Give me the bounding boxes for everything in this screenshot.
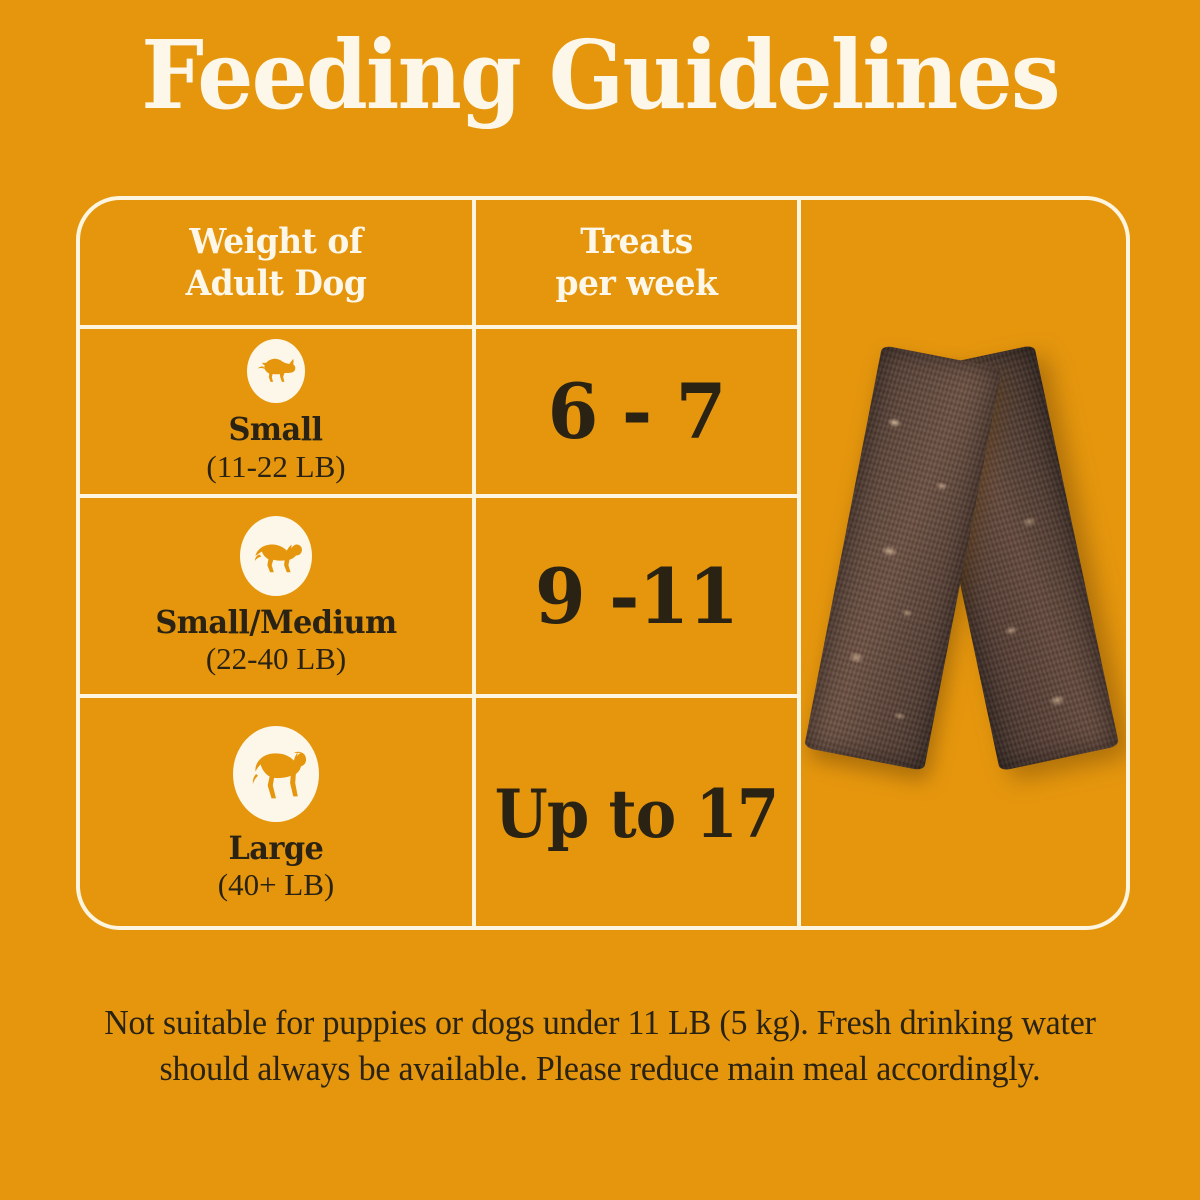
small-dog-icon [247,339,305,403]
column-header-treats-line1: Treats [580,221,693,262]
weight-range-small: (11-22 LB) [206,450,345,484]
weight-range-large: (40+ LB) [218,868,335,902]
size-label-medium: Small/Medium [155,606,396,640]
dog-treat-sticks-photo [814,353,1114,773]
medium-dog-icon [240,516,312,596]
footer-line-1: Not suitable for puppies or dogs under 1… [18,1000,1182,1046]
size-label-small: Small [229,413,323,447]
column-divider-1 [472,200,476,926]
size-label-large: Large [229,832,324,866]
footer-line-2: should always be available. Please reduc… [18,1046,1182,1092]
treats-per-week-medium: 9 -11 [482,498,790,694]
treats-per-week-large: Up to 17 [489,698,784,930]
column-header-treats-line2: per week [556,263,718,304]
large-dog-icon [233,726,319,822]
feeding-guidelines-table: Weight of Adult Dog Treats per week Smal… [76,196,1130,930]
weight-range-medium: (22-40 LB) [206,642,346,676]
footer-disclaimer: Not suitable for puppies or dogs under 1… [18,1000,1182,1092]
feeding-guidelines-page: Feeding Guidelines Weight of Adult Dog T… [0,0,1200,1200]
table-row-weight-cell-medium: Small/Medium (22-40 LB) [80,498,472,694]
column-header-weight-line1: Weight of [189,221,362,262]
column-header-weight-line2: Adult Dog [186,263,367,304]
table-row-weight-cell-small: Small (11-22 LB) [80,329,472,494]
product-image-cell [801,200,1126,926]
column-header-weight: Weight of Adult Dog [92,200,460,325]
table-row-weight-cell-large: Large (40+ LB) [80,698,472,930]
column-header-treats: Treats per week [486,200,788,325]
treats-per-week-small: 6 - 7 [482,329,790,494]
page-title: Feeding Guidelines [42,28,1158,123]
